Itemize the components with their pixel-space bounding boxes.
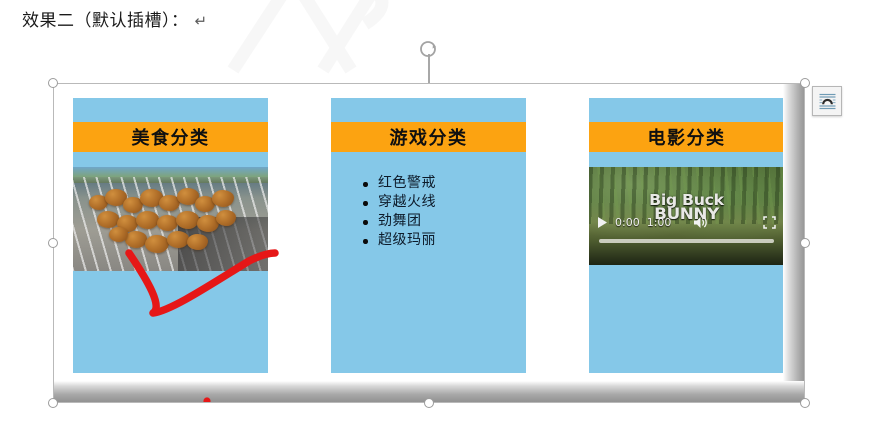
selected-object[interactable]: 美食分类 [53, 83, 805, 403]
card-movie-title: 电影分类 [648, 124, 726, 150]
paragraph-mark: ↵ [195, 13, 208, 30]
video-duration: 1:00 [647, 216, 672, 229]
video-progress-bar[interactable] [599, 239, 774, 243]
list-item[interactable]: 穿越火线 [361, 193, 436, 212]
embedded-screenshot[interactable]: 美食分类 [53, 83, 805, 403]
page-title-text: 效果二（默认插槽）： [22, 11, 189, 30]
rotate-icon[interactable] [419, 39, 439, 59]
card-movie[interactable]: 电影分类 Big Buck BUNNY 0:00 1:00 [589, 98, 784, 373]
layout-options-button[interactable] [812, 86, 842, 116]
card-game-title: 游戏分类 [390, 124, 468, 150]
video-current-time: 0:00 [615, 216, 640, 229]
resize-handle-top-left[interactable] [48, 78, 58, 88]
resize-handle-bottom-center[interactable] [424, 398, 434, 408]
document-page: 效果二（默认插槽）：↵ 美食分类 [0, 0, 875, 422]
page-title: 效果二（默认插槽）：↵ [22, 6, 208, 31]
background-watermark [215, 0, 430, 88]
card-food-title: 美食分类 [132, 124, 210, 150]
resize-handle-top-right[interactable] [800, 78, 810, 88]
list-item[interactable]: 劲舞团 [361, 212, 436, 231]
food-photo [73, 167, 268, 271]
card-game[interactable]: 游戏分类 红色警戒 穿越火线 劲舞团 超级玛丽 [331, 98, 526, 373]
play-icon[interactable] [597, 216, 608, 229]
list-item[interactable]: 超级玛丽 [361, 231, 436, 250]
video-controls[interactable]: 0:00 1:00 [597, 213, 776, 231]
card-game-header: 游戏分类 [331, 122, 526, 152]
text-wrapping-icon [818, 92, 837, 111]
list-item[interactable]: 红色警戒 [361, 174, 436, 193]
resize-handle-bottom-left[interactable] [48, 398, 58, 408]
resize-handle-middle-right[interactable] [800, 238, 810, 248]
card-movie-header: 电影分类 [589, 122, 784, 152]
game-list: 红色警戒 穿越火线 劲舞团 超级玛丽 [361, 174, 436, 250]
resize-handle-bottom-right[interactable] [800, 398, 810, 408]
resize-handle-middle-left[interactable] [48, 238, 58, 248]
video-player[interactable]: Big Buck BUNNY 0:00 1:00 [589, 167, 784, 265]
card-food[interactable]: 美食分类 [73, 98, 268, 373]
fullscreen-icon[interactable] [763, 216, 776, 229]
card-food-header: 美食分类 [73, 122, 268, 152]
volume-icon[interactable] [693, 216, 708, 229]
